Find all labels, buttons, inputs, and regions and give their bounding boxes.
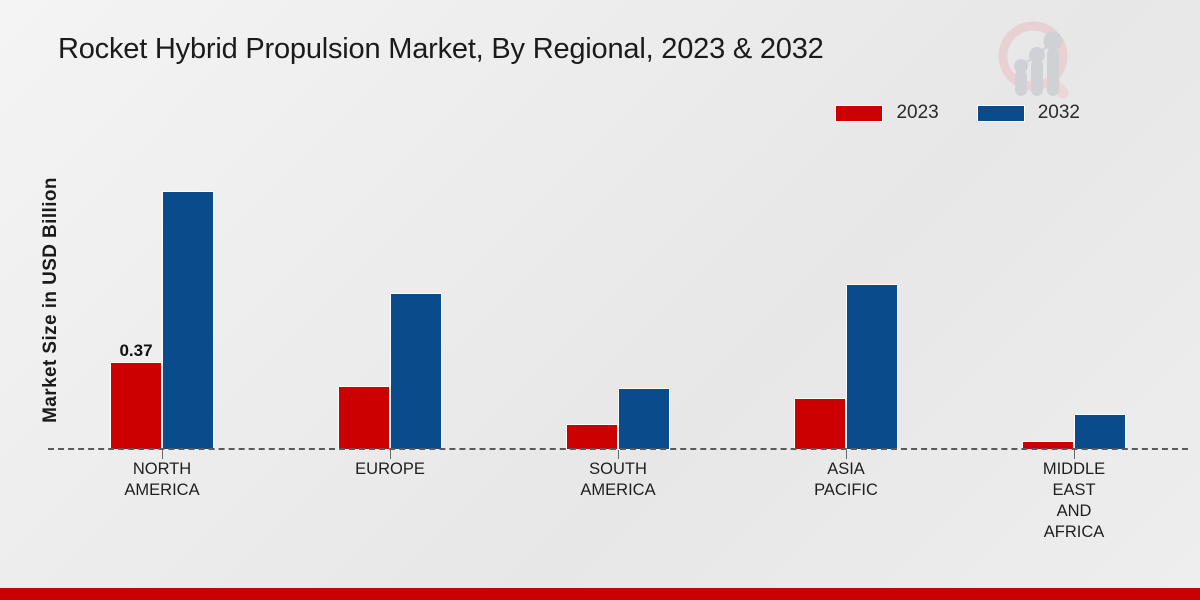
bar-groups: 0.37 [48, 165, 1188, 450]
legend-swatch-2023 [835, 105, 883, 122]
bar-pair [338, 165, 442, 450]
bar-group [960, 165, 1188, 450]
bar-2032-2[interactable] [618, 388, 670, 450]
bar-group [732, 165, 960, 450]
bar-group: 0.37 [48, 165, 276, 450]
legend-item-2032[interactable]: 2032 [977, 102, 1080, 124]
legend-label-2032: 2032 [1038, 102, 1080, 124]
bar-pair [566, 165, 670, 450]
legend-label-2023: 2023 [896, 102, 938, 124]
legend-swatch-2032 [977, 105, 1025, 122]
chart-figure: Rocket Hybrid Propulsion Market, By Regi… [0, 0, 1200, 600]
x-axis-tick [162, 450, 163, 459]
bar-2023-2[interactable] [566, 424, 618, 450]
bar-group [504, 165, 732, 450]
x-axis-tick [1074, 450, 1075, 459]
bar-2032-1[interactable] [390, 293, 442, 450]
legend-item-2023[interactable]: 2023 [835, 102, 938, 124]
bar-2023-3[interactable] [794, 398, 846, 450]
x-axis-labels: NORTHAMERICAEUROPESOUTHAMERICAASIAPACIFI… [48, 459, 1188, 543]
bar-pair [1022, 165, 1126, 450]
watermark-logo [990, 18, 1086, 104]
bar-chart-icon [1014, 32, 1063, 97]
x-axis-label-0: NORTHAMERICA [48, 459, 276, 543]
footer-accent-bar [0, 588, 1200, 600]
bar-group [276, 165, 504, 450]
plot-area: 0.37 [48, 165, 1188, 450]
x-axis-baseline [48, 448, 1188, 450]
bar-2032-0[interactable] [162, 191, 214, 450]
bar-2023-1[interactable] [338, 386, 390, 450]
chart-title: Rocket Hybrid Propulsion Market, By Regi… [58, 33, 824, 66]
x-axis-label-4: MIDDLEEASTANDAFRICA [960, 459, 1188, 543]
bar-pair: 0.37 [110, 165, 214, 450]
x-axis-tick [390, 450, 391, 459]
x-axis-tick [618, 450, 619, 459]
x-axis-label-1: EUROPE [276, 459, 504, 543]
bar-pair [794, 165, 898, 450]
bar-2023-0[interactable]: 0.37 [110, 362, 162, 450]
bar-2032-4[interactable] [1074, 414, 1126, 450]
x-axis-tick [846, 450, 847, 459]
x-axis-label-2: SOUTHAMERICA [504, 459, 732, 543]
chart-legend: 2023 2032 [835, 102, 1080, 124]
x-axis-label-3: ASIAPACIFIC [732, 459, 960, 543]
bar-value-label: 0.37 [119, 341, 152, 361]
bar-2032-3[interactable] [846, 284, 898, 450]
